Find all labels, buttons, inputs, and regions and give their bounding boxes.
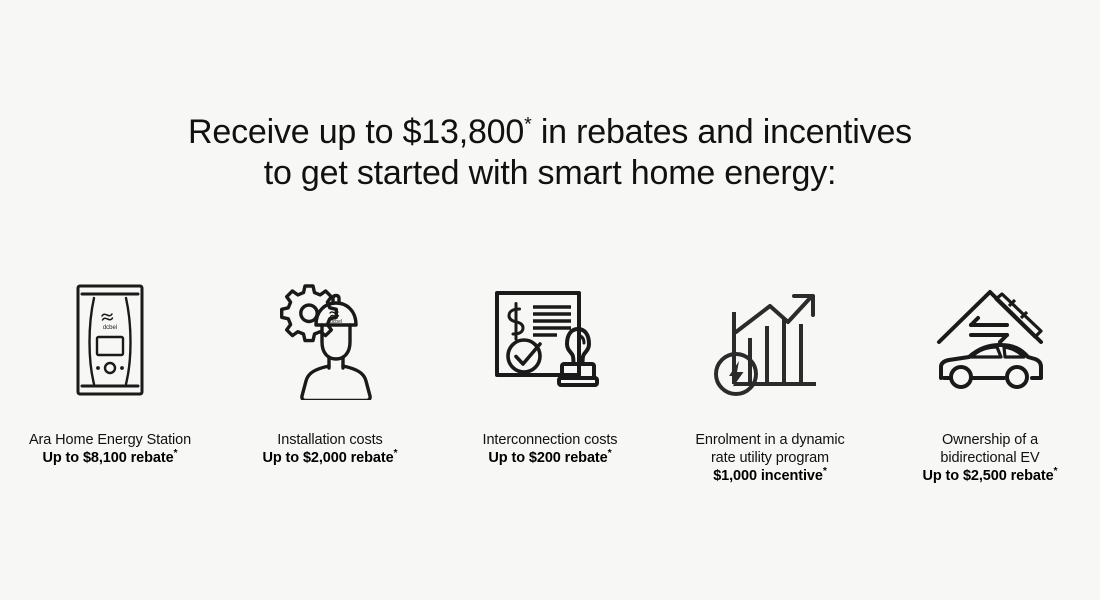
benefit-title-line2: bidirectional EV: [883, 449, 1098, 467]
benefit-caption: Ara Home Energy Station Up to $8,100 reb…: [3, 431, 218, 467]
helmet-logo-text: dcbel: [330, 319, 342, 325]
benefit-item-interconnection-costs: Interconnection costs Up to $200 rebate*: [440, 275, 660, 467]
headline-asterisk: *: [524, 114, 531, 136]
page-headline: Receive up to $13,800* in rebates and in…: [0, 112, 1100, 194]
benefit-amount-asterisk: *: [608, 448, 612, 459]
dcbel-logo-mark: [102, 314, 113, 320]
house-ev-bidirectional-icon: [931, 288, 1049, 400]
benefit-amount-asterisk: *: [823, 466, 827, 477]
check-circle-icon: [508, 340, 540, 372]
benefit-amount-asterisk: *: [1054, 466, 1058, 477]
solar-panel-icon: [996, 294, 1041, 337]
benefit-title-line1: Ownership of a: [883, 431, 1098, 449]
benefit-caption: Installation costs Up to $2,000 rebate*: [223, 431, 438, 467]
benefit-item-bidirectional-ev: Ownership of a bidirectional EV Up to $2…: [880, 275, 1100, 485]
benefit-caption: Ownership of a bidirectional EV Up to $2…: [883, 431, 1098, 485]
dollar-sign-icon: [509, 304, 523, 340]
bar-chart-bolt-icon: [714, 288, 826, 400]
benefits-row: dcbel Ara Home Energy Station Up to $8,1…: [0, 275, 1100, 485]
benefit-title-line1: Enrolment in a dynamic: [663, 431, 878, 449]
headline-line1-before: Receive up to $13,800: [188, 113, 524, 151]
benefit-title: Installation costs: [223, 431, 438, 449]
benefit-amount-asterisk: *: [174, 448, 178, 459]
device-logo-text: dcbel: [103, 325, 117, 331]
icon-area: [714, 275, 826, 400]
benefit-caption: Enrolment in a dynamic rate utility prog…: [663, 431, 878, 485]
icon-area: dcbel: [60, 275, 160, 400]
benefit-title-line2: rate utility program: [663, 449, 878, 467]
bidirectional-arrows-icon: [971, 318, 1007, 342]
benefit-title: Interconnection costs: [443, 431, 658, 449]
benefit-item-installation-costs: dcbel Installation costs Up to $2,000 re…: [220, 275, 440, 467]
benefit-item-dynamic-rate-program: Enrolment in a dynamic rate utility prog…: [660, 275, 880, 485]
headline-line1-after: in rebates and incentives: [532, 113, 912, 151]
benefit-item-ara-home-energy-station: dcbel Ara Home Energy Station Up to $8,1…: [0, 275, 220, 467]
benefit-amount: Up to $8,100 rebate*: [3, 449, 218, 467]
benefit-amount-asterisk: *: [394, 448, 398, 459]
document-stamp-icon: [491, 288, 609, 400]
benefit-amount-text: Up to $200 rebate: [488, 450, 607, 466]
benefit-amount-text: Up to $2,500 rebate: [922, 468, 1053, 484]
benefit-title: Ara Home Energy Station: [3, 431, 218, 449]
icon-area: dcbel: [275, 275, 385, 400]
benefit-caption: Interconnection costs Up to $200 rebate*: [443, 431, 658, 467]
installer-gear-icon: dcbel: [275, 280, 385, 400]
benefit-amount: Up to $200 rebate*: [443, 449, 658, 467]
icon-area: [931, 275, 1049, 400]
document-text-lines: [533, 307, 571, 335]
gear-icon: [282, 286, 337, 341]
headline-line2: to get started with smart home energy:: [0, 153, 1100, 194]
benefit-amount: Up to $2,500 rebate*: [883, 467, 1098, 485]
home-energy-station-icon: dcbel: [60, 280, 160, 400]
benefit-amount-text: $1,000 incentive: [713, 468, 823, 484]
benefit-amount-text: Up to $8,100 rebate: [42, 450, 173, 466]
benefit-amount-text: Up to $2,000 rebate: [262, 450, 393, 466]
icon-area: [491, 275, 609, 400]
ev-car-icon: [941, 345, 1041, 387]
benefit-amount: $1,000 incentive*: [663, 467, 878, 485]
benefit-amount: Up to $2,000 rebate*: [223, 449, 438, 467]
